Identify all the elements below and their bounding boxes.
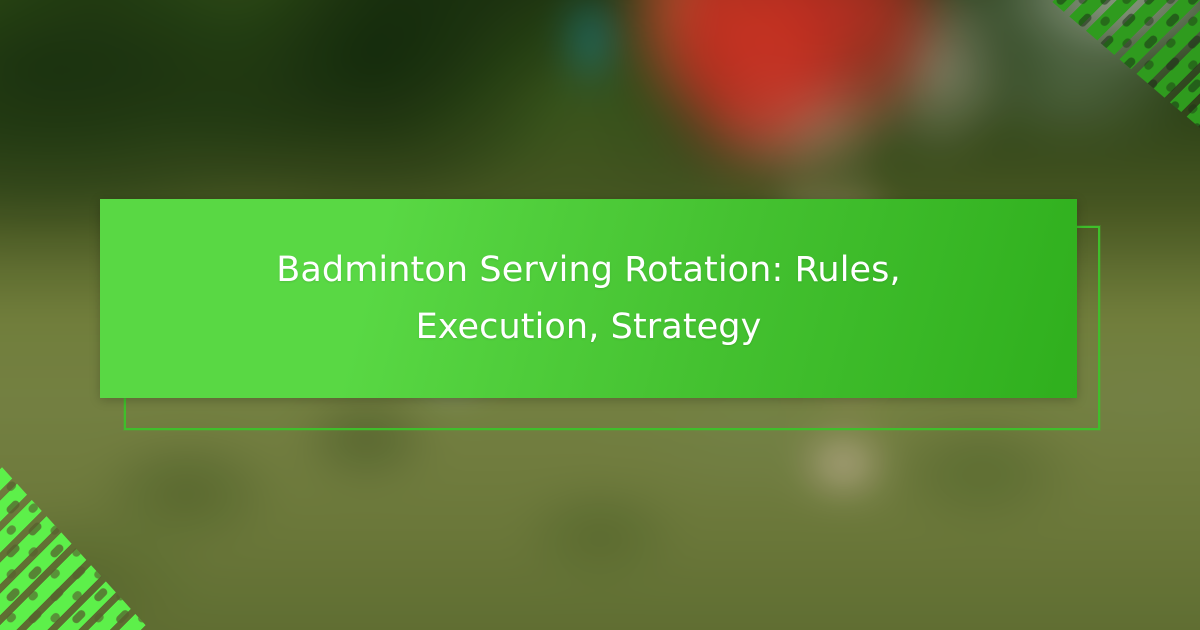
title-card: Badminton Serving Rotation: Rules, Execu… (100, 199, 1077, 398)
share-card-canvas: Badminton Serving Rotation: Rules, Execu… (0, 0, 1200, 630)
page-title: Badminton Serving Rotation: Rules, Execu… (269, 242, 909, 355)
